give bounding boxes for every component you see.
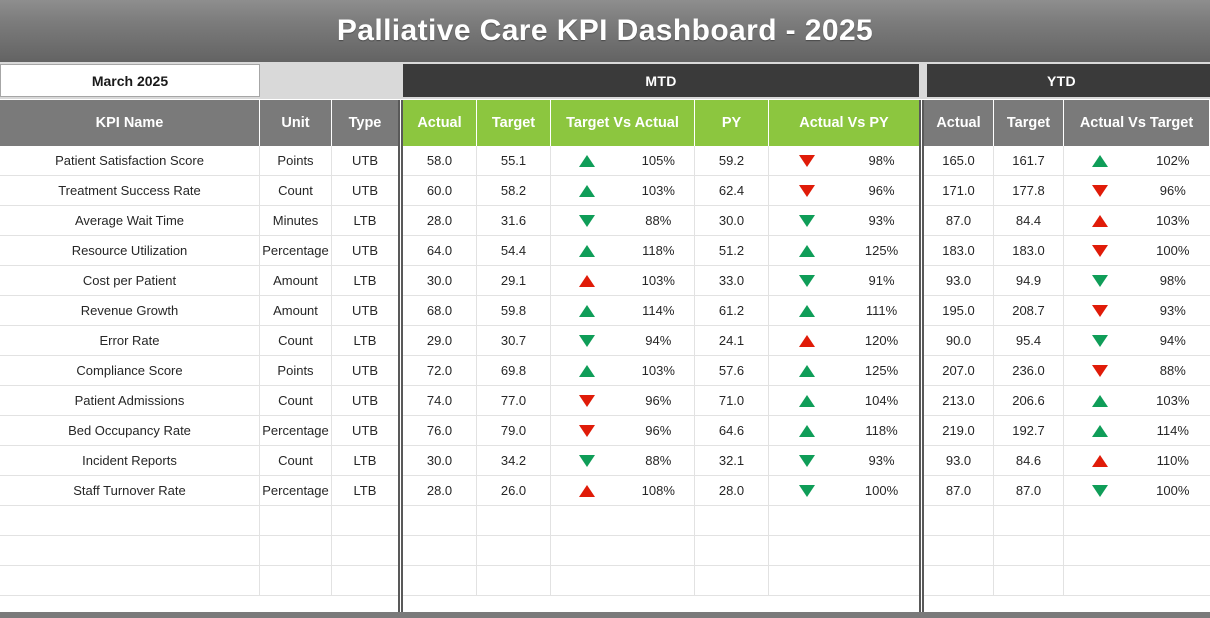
ytd-actual-vs-target-cell-arrow [1064,485,1137,497]
type-cell: UTB [332,356,398,385]
ytd-actual-cell: 87.0 [924,476,994,505]
mtd-actual-cell: 72.0 [403,356,477,385]
column-header-mtd-py[interactable]: PY [695,100,769,146]
ytd-target-cell: 192.7 [994,416,1064,445]
mtd-target-vs-actual-cell-value: 88% [623,453,695,468]
ytd-actual-vs-target-cell [1064,566,1209,595]
table-row[interactable]: Patient Satisfaction ScorePointsUTB [0,146,398,176]
mtd-actual-vs-py-cell-arrow [769,245,844,257]
ytd-target-cell [994,566,1064,595]
type-cell: LTB [332,476,398,505]
ytd-actual-cell: 90.0 [924,326,994,355]
kpi-name-cell: Error Rate [0,326,260,355]
mtd-actual-vs-py-cell-arrow [769,155,844,167]
mtd-target-vs-actual-cell: 118% [551,236,695,265]
column-header-mtd-actual[interactable]: Actual [403,100,477,146]
mtd-actual-vs-py-cell-value: 91% [844,273,919,288]
ytd-target-cell [994,536,1064,565]
mtd-target-vs-actual-cell-arrow [551,335,623,347]
mtd-target-cell: 55.1 [477,146,551,175]
arrow-up-green-icon [579,365,595,377]
arrow-down-red-icon [1092,365,1108,377]
mtd-target-vs-actual-cell: 103% [551,356,695,385]
mtd-target-cell: 29.1 [477,266,551,295]
unit-cell: Percentage [260,236,332,265]
ytd-target-cell: 183.0 [994,236,1064,265]
ytd-body: 165.0161.7102%171.0177.896%87.084.4103%1… [924,146,1210,618]
mtd-actual-vs-py-cell-value: 125% [844,243,919,258]
table-row[interactable]: 165.0161.7102% [924,146,1210,176]
arrow-up-green-icon [799,305,815,317]
unit-cell [260,506,332,535]
mtd-actual-cell: 68.0 [403,296,477,325]
ytd-actual-cell [924,536,994,565]
column-header-unit[interactable]: Unit [260,100,332,146]
unit-cell: Amount [260,296,332,325]
ytd-target-cell: 208.7 [994,296,1064,325]
mtd-target-vs-actual-cell-arrow [551,395,623,407]
mtd-actual-vs-py-cell-arrow [769,215,844,227]
mtd-actual-vs-py-cell-value: 120% [844,333,919,348]
column-header-mtd-target[interactable]: Target [477,100,551,146]
empty-table-row[interactable] [924,536,1210,566]
ytd-actual-vs-target-cell-arrow [1064,275,1137,287]
table-row[interactable]: 207.0236.088% [924,356,1210,386]
mtd-actual-cell: 74.0 [403,386,477,415]
type-cell [332,536,398,565]
mtd-target-vs-actual-cell: 96% [551,386,695,415]
column-header-mtd-target-vs-actual[interactable]: Target Vs Actual [551,100,695,146]
mtd-py-cell [695,566,769,595]
mtd-target-vs-actual-cell: 96% [551,416,695,445]
ytd-target-cell: 84.4 [994,206,1064,235]
table-row[interactable]: 195.0208.793% [924,296,1210,326]
mtd-actual-vs-py-cell: 104% [769,386,919,415]
ytd-actual-cell: 195.0 [924,296,994,325]
mtd-target-vs-actual-cell [551,506,695,535]
mtd-actual-vs-py-cell [769,566,919,595]
mtd-target-cell [477,506,551,535]
mtd-target-cell: 26.0 [477,476,551,505]
mtd-actual-vs-py-cell [769,506,919,535]
kpi-name-cell: Staff Turnover Rate [0,476,260,505]
mtd-actual-vs-py-cell-value: 93% [844,453,919,468]
mtd-actual-vs-py-cell-arrow [769,275,844,287]
mtd-actual-cell: 76.0 [403,416,477,445]
arrow-down-green-icon [799,275,815,287]
column-header-ytd-actual-vs-target[interactable]: Actual Vs Target [1064,100,1209,146]
mtd-actual-vs-py-cell-value: 96% [844,183,919,198]
arrow-up-green-icon [579,245,595,257]
table-row[interactable]: Incident ReportsCountLTB [0,446,398,476]
left-header-row: KPI Name Unit Type [0,100,398,146]
arrow-down-red-icon [579,425,595,437]
mtd-actual-vs-py-cell: 96% [769,176,919,205]
ytd-actual-vs-target-cell-value: 100% [1137,243,1210,258]
mtd-target-vs-actual-cell-arrow [551,425,623,437]
mtd-target-vs-actual-cell-value: 103% [623,183,695,198]
ytd-actual-vs-target-cell-value: 96% [1137,183,1210,198]
kpi-name-cell: Patient Admissions [0,386,260,415]
ytd-actual-vs-target-cell-value: 98% [1137,273,1210,288]
mtd-target-vs-actual-cell-value: 96% [623,393,695,408]
mtd-actual-cell: 64.0 [403,236,477,265]
ytd-actual-vs-target-cell-value: 93% [1137,303,1210,318]
mtd-actual-vs-py-cell-arrow [769,455,844,467]
ytd-actual-vs-target-cell-arrow [1064,155,1137,167]
mtd-target-vs-actual-cell-arrow [551,155,623,167]
ytd-actual-vs-target-cell: 100% [1064,236,1209,265]
mtd-section-header: MTD [403,64,919,97]
table-row[interactable]: 60.058.2103%62.496% [403,176,919,206]
table-row[interactable]: Patient AdmissionsCountUTB [0,386,398,416]
table-row[interactable]: 68.059.8114%61.2111% [403,296,919,326]
table-row[interactable]: Average Wait TimeMinutesLTB [0,206,398,236]
arrow-down-green-icon [1092,485,1108,497]
ytd-actual-vs-target-cell-arrow [1064,215,1137,227]
empty-table-row[interactable] [0,566,398,596]
mtd-actual-vs-py-cell-value: 111% [844,303,919,318]
mtd-actual-vs-py-cell: 98% [769,146,919,175]
kpi-name-cell [0,566,260,595]
mtd-actual-cell: 28.0 [403,206,477,235]
arrow-up-green-icon [799,425,815,437]
mtd-target-vs-actual-cell-arrow [551,215,623,227]
table-row[interactable]: Compliance ScorePointsUTB [0,356,398,386]
arrow-up-green-icon [579,155,595,167]
table-row[interactable]: 72.069.8103%57.6125% [403,356,919,386]
table-row[interactable]: 30.034.288%32.193% [403,446,919,476]
empty-table-row[interactable] [0,536,398,566]
mtd-actual-vs-py-cell-value: 118% [844,423,919,438]
ytd-actual-cell: 93.0 [924,266,994,295]
ytd-actual-vs-target-cell-arrow [1064,425,1137,437]
kpi-name-cell: Incident Reports [0,446,260,475]
mtd-py-cell: 32.1 [695,446,769,475]
mtd-actual-vs-py-cell: 125% [769,356,919,385]
unit-cell: Percentage [260,476,332,505]
arrow-down-red-icon [1092,305,1108,317]
period-selector[interactable]: March 2025 [0,64,260,97]
arrow-up-green-icon [579,305,595,317]
mtd-target-vs-actual-cell-arrow [551,245,623,257]
mtd-py-cell: 24.1 [695,326,769,355]
ytd-actual-vs-target-cell-arrow [1064,365,1137,377]
ytd-actual-cell: 213.0 [924,386,994,415]
unit-cell [260,566,332,595]
ytd-label: YTD [1047,73,1076,89]
mtd-target-vs-actual-cell-arrow [551,455,623,467]
table-row[interactable]: Resource UtilizationPercentageUTB [0,236,398,266]
table-row[interactable]: 28.026.0108%28.0100% [403,476,919,506]
mtd-target-vs-actual-cell-value: 103% [623,273,695,288]
mtd-actual-vs-py-cell: 118% [769,416,919,445]
mtd-target-vs-actual-cell-value: 114% [623,303,695,318]
unit-cell: Count [260,326,332,355]
table-row[interactable]: 93.094.998% [924,266,1210,296]
table-row[interactable]: 87.084.4103% [924,206,1210,236]
ytd-target-cell: 87.0 [994,476,1064,505]
ytd-target-cell: 84.6 [994,446,1064,475]
type-cell: LTB [332,446,398,475]
ytd-metrics-block: Actual Target Actual Vs Target 165.0161.… [924,100,1210,618]
kpi-name-cell: Average Wait Time [0,206,260,235]
ytd-target-cell: 177.8 [994,176,1064,205]
ytd-target-cell: 236.0 [994,356,1064,385]
unit-cell: Points [260,146,332,175]
type-cell: UTB [332,176,398,205]
table-row[interactable]: Revenue GrowthAmountUTB [0,296,398,326]
unit-cell [260,536,332,565]
table-row[interactable]: 30.029.1103%33.091% [403,266,919,296]
type-cell: UTB [332,386,398,415]
table-row[interactable]: 90.095.494% [924,326,1210,356]
type-cell: LTB [332,326,398,355]
mtd-target-vs-actual-cell-value: 96% [623,423,695,438]
table-row[interactable]: 64.054.4118%51.2125% [403,236,919,266]
ytd-actual-vs-target-cell-value: 103% [1137,213,1210,228]
mtd-actual-vs-py-cell-arrow [769,185,844,197]
mtd-actual-vs-py-cell-arrow [769,365,844,377]
mtd-py-cell: 57.6 [695,356,769,385]
ytd-actual-vs-target-cell-value: 114% [1137,423,1210,438]
mtd-actual-vs-py-cell: 125% [769,236,919,265]
ytd-actual-vs-target-cell: 114% [1064,416,1209,445]
type-cell: LTB [332,206,398,235]
mtd-py-cell: 61.2 [695,296,769,325]
type-cell [332,566,398,595]
arrow-down-green-icon [799,455,815,467]
mtd-actual-vs-py-cell [769,536,919,565]
arrow-up-red-icon [1092,215,1108,227]
ytd-actual-vs-target-cell-value: 94% [1137,333,1210,348]
empty-table-row[interactable] [403,506,919,536]
ytd-target-cell: 161.7 [994,146,1064,175]
mtd-actual-cell: 30.0 [403,266,477,295]
mtd-metrics-block: Actual Target Target Vs Actual PY Actual… [403,100,919,618]
page-title: Palliative Care KPI Dashboard - 2025 [337,14,873,48]
mtd-actual-vs-py-cell-arrow [769,335,844,347]
column-header-type[interactable]: Type [332,100,398,146]
mtd-actual-vs-py-cell-value: 100% [844,483,919,498]
table-row[interactable]: 28.031.688%30.093% [403,206,919,236]
type-cell: LTB [332,266,398,295]
period-label: March 2025 [92,73,168,89]
ytd-actual-cell: 219.0 [924,416,994,445]
empty-table-row[interactable] [924,506,1210,536]
mtd-actual-vs-py-cell-value: 93% [844,213,919,228]
mtd-py-cell: 59.2 [695,146,769,175]
arrow-up-green-icon [1092,425,1108,437]
dashboard-title-bar: Palliative Care KPI Dashboard - 2025 [0,0,1210,62]
mtd-target-vs-actual-cell-value: 88% [623,213,695,228]
arrow-up-red-icon [579,485,595,497]
ytd-actual-vs-target-cell: 88% [1064,356,1209,385]
mtd-actual-vs-py-cell-arrow [769,305,844,317]
mtd-target-vs-actual-cell: 103% [551,266,695,295]
arrow-down-red-icon [1092,245,1108,257]
arrow-down-green-icon [579,215,595,227]
column-header-mtd-actual-vs-py[interactable]: Actual Vs PY [769,100,919,146]
ytd-actual-cell: 165.0 [924,146,994,175]
mtd-target-vs-actual-cell: 103% [551,176,695,205]
kpi-name-cell: Resource Utilization [0,236,260,265]
mtd-target-vs-actual-cell-value: 108% [623,483,695,498]
ytd-actual-vs-target-cell: 100% [1064,476,1209,505]
kpi-name-cell: Bed Occupancy Rate [0,416,260,445]
ytd-section-header: YTD [927,64,1210,97]
arrow-down-green-icon [579,335,595,347]
table-row[interactable]: Treatment Success RateCountUTB [0,176,398,206]
section-band-row: March 2025 MTD YTD [0,62,1210,100]
ytd-actual-vs-target-cell: 96% [1064,176,1209,205]
arrow-up-green-icon [579,185,595,197]
column-header-ytd-target[interactable]: Target [994,100,1064,146]
table-row[interactable]: 183.0183.0100% [924,236,1210,266]
mtd-actual-vs-py-cell-arrow [769,425,844,437]
unit-cell: Percentage [260,416,332,445]
kpi-name-cell: Cost per Patient [0,266,260,295]
mtd-target-cell: 31.6 [477,206,551,235]
mtd-actual-cell: 60.0 [403,176,477,205]
table-row[interactable]: 93.084.6110% [924,446,1210,476]
table-row[interactable]: Cost per PatientAmountLTB [0,266,398,296]
mtd-target-cell: 34.2 [477,446,551,475]
arrow-down-red-icon [579,395,595,407]
mtd-target-cell: 58.2 [477,176,551,205]
mtd-target-cell: 69.8 [477,356,551,385]
mtd-py-cell: 30.0 [695,206,769,235]
ytd-actual-cell: 93.0 [924,446,994,475]
ytd-actual-vs-target-cell-value: 102% [1137,153,1210,168]
footer-divider [0,612,1210,618]
mtd-actual-vs-py-cell-value: 125% [844,363,919,378]
arrow-up-red-icon [1092,455,1108,467]
mtd-actual-vs-py-cell-value: 98% [844,153,919,168]
arrow-up-green-icon [799,395,815,407]
mtd-header-row: Actual Target Target Vs Actual PY Actual… [403,100,919,146]
ytd-actual-vs-target-cell: 103% [1064,386,1209,415]
empty-table-row[interactable] [403,566,919,596]
ytd-actual-vs-target-cell: 103% [1064,206,1209,235]
mtd-py-cell: 51.2 [695,236,769,265]
kpi-name-cell: Treatment Success Rate [0,176,260,205]
table-row[interactable]: Error RateCountLTB [0,326,398,356]
band-spacer-left [260,62,403,99]
left-body: Patient Satisfaction ScorePointsUTBTreat… [0,146,398,618]
ytd-actual-vs-target-cell-value: 88% [1137,363,1210,378]
table-row[interactable]: Staff Turnover RatePercentageLTB [0,476,398,506]
arrow-up-green-icon [1092,155,1108,167]
empty-table-row[interactable] [924,566,1210,596]
unit-cell: Minutes [260,206,332,235]
ytd-actual-cell [924,506,994,535]
ytd-actual-vs-target-cell-value: 103% [1137,393,1210,408]
arrow-up-green-icon [799,245,815,257]
kpi-table: KPI Name Unit Type Patient Satisfaction … [0,100,1210,618]
table-row[interactable]: 219.0192.7114% [924,416,1210,446]
mtd-py-cell: 71.0 [695,386,769,415]
mtd-actual-cell [403,506,477,535]
ytd-actual-cell: 207.0 [924,356,994,385]
mtd-py-cell: 28.0 [695,476,769,505]
table-row[interactable]: 171.0177.896% [924,176,1210,206]
unit-cell: Count [260,446,332,475]
mtd-target-vs-actual-cell-value: 118% [623,243,695,258]
ytd-target-cell: 95.4 [994,326,1064,355]
mtd-target-vs-actual-cell-value: 103% [623,363,695,378]
ytd-actual-vs-target-cell-arrow [1064,185,1137,197]
arrow-down-green-icon [799,215,815,227]
mtd-target-vs-actual-cell [551,536,695,565]
type-cell: UTB [332,416,398,445]
mtd-actual-vs-py-cell: 100% [769,476,919,505]
mtd-target-vs-actual-cell-arrow [551,485,623,497]
arrow-down-green-icon [1092,275,1108,287]
ytd-actual-vs-target-cell-arrow [1064,455,1137,467]
kpi-name-cell [0,506,260,535]
table-row[interactable]: 87.087.0100% [924,476,1210,506]
mtd-py-cell: 33.0 [695,266,769,295]
mtd-actual-vs-py-cell: 120% [769,326,919,355]
table-row[interactable]: 58.055.1105%59.298% [403,146,919,176]
ytd-actual-vs-target-cell-value: 100% [1137,483,1210,498]
type-cell [332,506,398,535]
kpi-name-cell: Compliance Score [0,356,260,385]
table-row[interactable]: 76.079.096%64.6118% [403,416,919,446]
table-row[interactable]: 29.030.794%24.1120% [403,326,919,356]
mtd-py-cell [695,536,769,565]
mtd-actual-cell [403,536,477,565]
mtd-py-cell [695,506,769,535]
arrow-down-red-icon [799,155,815,167]
mtd-py-cell: 64.6 [695,416,769,445]
mtd-target-vs-actual-cell: 114% [551,296,695,325]
arrow-down-green-icon [799,485,815,497]
ytd-target-cell [994,506,1064,535]
ytd-actual-vs-target-cell-value: 110% [1137,453,1210,468]
unit-cell: Amount [260,266,332,295]
column-header-kpi-name[interactable]: KPI Name [0,100,260,146]
mtd-actual-cell: 30.0 [403,446,477,475]
arrow-up-green-icon [799,365,815,377]
table-row[interactable]: 74.077.096%71.0104% [403,386,919,416]
type-cell: UTB [332,146,398,175]
mtd-target-cell: 30.7 [477,326,551,355]
empty-table-row[interactable] [0,506,398,536]
mtd-actual-cell: 58.0 [403,146,477,175]
unit-cell: Count [260,386,332,415]
ytd-header-row: Actual Target Actual Vs Target [924,100,1210,146]
arrow-down-red-icon [799,185,815,197]
ytd-actual-vs-target-cell: 110% [1064,446,1209,475]
empty-table-row[interactable] [403,536,919,566]
table-row[interactable]: 213.0206.6103% [924,386,1210,416]
mtd-target-cell [477,536,551,565]
column-header-ytd-actual[interactable]: Actual [924,100,994,146]
ytd-target-cell: 94.9 [994,266,1064,295]
mtd-target-cell [477,566,551,595]
ytd-actual-cell: 87.0 [924,206,994,235]
mtd-actual-cell: 28.0 [403,476,477,505]
ytd-actual-vs-target-cell-arrow [1064,335,1137,347]
mtd-actual-vs-py-cell: 93% [769,206,919,235]
mtd-label: MTD [645,73,676,89]
arrow-up-green-icon [1092,395,1108,407]
ytd-actual-vs-target-cell: 94% [1064,326,1209,355]
type-cell: UTB [332,236,398,265]
table-row[interactable]: Bed Occupancy RatePercentageUTB [0,416,398,446]
